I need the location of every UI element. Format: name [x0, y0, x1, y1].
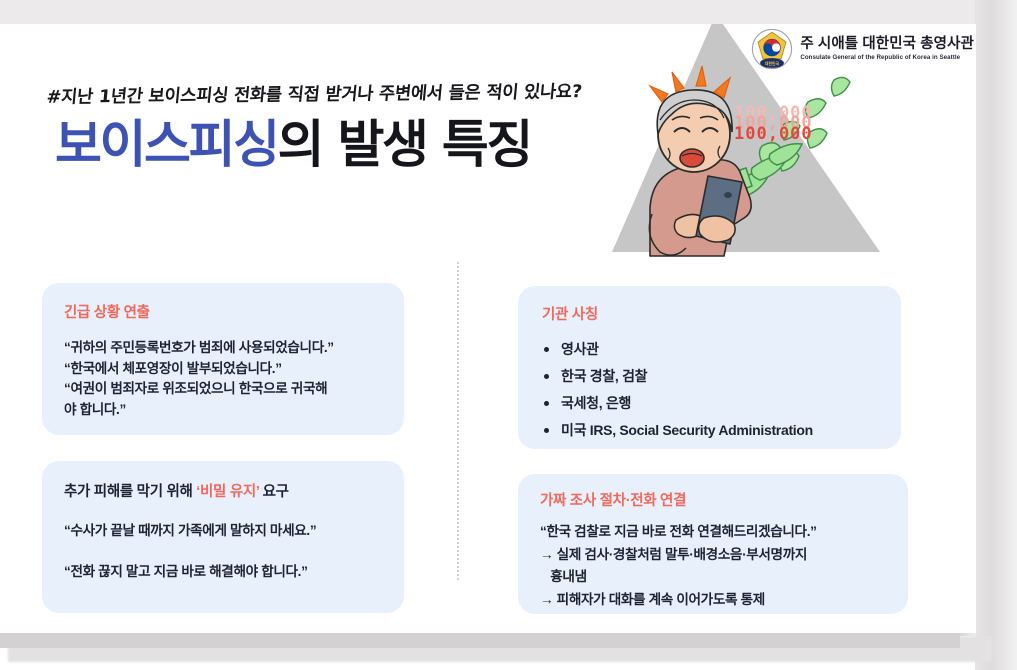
detail-line: → 실제 검사·경찰처럼 말투·배경소음·부서명까지	[540, 545, 886, 566]
top-gray-band	[0, 0, 1017, 26]
content-columns: 긴급 상황 연출 “귀하의 주민등록번호가 범죄에 사용되었습니다.” “한국에…	[0, 24, 976, 633]
agency-list: 영사관 한국 경찰, 검찰 국세청, 은행 미국 IRS, Social Sec…	[542, 336, 879, 444]
card-agency-heading: 기관 사칭	[542, 303, 879, 324]
quote-line: “전화 끊지 말고 지금 바로 해결해야 합니다.”	[64, 562, 382, 583]
page-root: 100,000 100,000 100,000	[0, 0, 1017, 670]
card-secrecy-demand: 추가 피해를 막기 위해 ‘비밀 유지’ 요구 “수사가 끝날 때까지 가족에게…	[42, 461, 404, 613]
quote-line: “수사가 끝날 때까지 가족에게 말하지 마세요.”	[64, 521, 382, 542]
logo-title-kr: 주 시애틀 대한민국 총영사관	[800, 37, 974, 52]
list-item: 미국 IRS, Social Security Administration	[542, 417, 879, 444]
card-secrecy-heading-post: 요구	[259, 484, 288, 500]
card-agency-impersonation: 기관 사칭 영사관 한국 경찰, 검찰 국세청, 은행 미국 IRS, Soci…	[518, 286, 901, 449]
column-divider	[457, 262, 459, 580]
card-secrecy-heading-pre: 추가 피해를 막기 위해	[64, 484, 196, 500]
card-secrecy-heading-highlight: ‘비밀 유지’	[196, 484, 259, 500]
quote-line: 야 합니다.”	[64, 400, 382, 421]
card-secrecy-body: “수사가 끝날 때까지 가족에게 말하지 마세요.” “전화 끊지 말고 지금 …	[64, 521, 382, 582]
list-item: 한국 경찰, 검찰	[542, 363, 879, 390]
svg-text:대한민국: 대한민국	[765, 61, 780, 66]
card-secrecy-heading: 추가 피해를 막기 위해 ‘비밀 유지’ 요구	[64, 480, 382, 501]
card-fake-body: “한국 검찰로 지금 바로 전화 연결해드리겠습니다.” → 실제 검사·경찰처…	[540, 522, 886, 611]
slide-canvas: 100,000 100,000 100,000	[0, 24, 976, 633]
list-item: 영사관	[542, 336, 879, 363]
right-gray-band	[975, 0, 1017, 670]
card-fake-investigation: 가짜 조사 절차·전화 연결 “한국 검찰로 지금 바로 전화 연결해드리겠습니…	[518, 474, 908, 614]
logo-title-en: Consulate General of the Republic of Kor…	[800, 55, 974, 61]
consulate-logo-block: 대한민국 주 시애틀 대한민국 총영사관 Consulate General o…	[751, 28, 974, 70]
quote-line: “한국에서 체포영장이 발부되었습니다.”	[64, 359, 382, 380]
card-urgent-situation: 긴급 상황 연출 “귀하의 주민등록번호가 범죄에 사용되었습니다.” “한국에…	[42, 283, 404, 435]
korea-national-emblem-icon: 대한민국	[751, 28, 793, 70]
quote-line: “귀하의 주민등록번호가 범죄에 사용되었습니다.”	[64, 338, 382, 359]
detail-line: 흉내냄	[540, 567, 886, 588]
card-urgent-body: “귀하의 주민등록번호가 범죄에 사용되었습니다.” “한국에서 체포영장이 발…	[64, 338, 382, 421]
quote-line: “여권이 범죄자로 위조되었으니 한국으로 귀국해	[64, 379, 382, 400]
card-urgent-heading: 긴급 상황 연출	[64, 301, 382, 322]
list-item: 국세청, 은행	[542, 390, 879, 417]
detail-line: → 피해자가 대화를 계속 이어가도록 통제	[540, 590, 886, 611]
card-fake-heading: 가짜 조사 절차·전화 연결	[540, 489, 886, 510]
quote-line: “한국 검찰로 지금 바로 전화 연결해드리겠습니다.”	[540, 522, 886, 543]
